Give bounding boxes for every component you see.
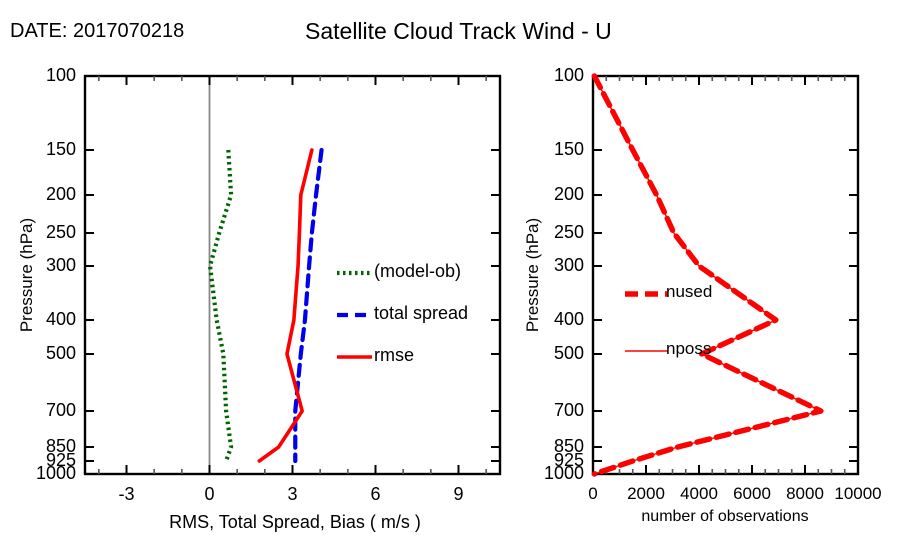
legend-label-nposs: nposs <box>666 339 711 359</box>
right-xaxis-title: number of observations <box>600 508 850 526</box>
right-ytick-700: 700 <box>518 400 584 421</box>
right-yaxis-title: Pressure (hPa) <box>523 200 543 350</box>
left-xtick-6: 6 <box>346 484 406 505</box>
left-xaxis-title: RMS, Total Spread, Bias ( m/s ) <box>140 512 450 533</box>
left-xtick-0: 0 <box>180 484 240 505</box>
legend-label-modelob: (model-ob) <box>374 261 461 282</box>
left-ytick-100: 100 <box>10 65 76 86</box>
legend-label-nused: nused <box>666 282 712 302</box>
right-ytick-150: 150 <box>518 139 584 160</box>
left-yaxis-title: Pressure (hPa) <box>17 200 37 350</box>
chart-root: DATE: 2017070218 Satellite Cloud Track W… <box>0 0 900 560</box>
right-panel-plot <box>593 76 858 474</box>
right-xtick-10000: 10000 <box>818 484 898 504</box>
right-ytick-1000: 1000 <box>518 463 584 484</box>
left-ytick-1000: 1000 <box>10 463 76 484</box>
left-xtick-9: 9 <box>429 484 489 505</box>
left-ytick-700: 700 <box>10 400 76 421</box>
left-xtick-3: 3 <box>263 484 323 505</box>
left-xtick--3: -3 <box>97 484 157 505</box>
legend-label-rmse: rmse <box>374 345 414 366</box>
legend-label-totalspread: total spread <box>374 303 468 324</box>
right-ytick-100: 100 <box>518 65 584 86</box>
left-ytick-150: 150 <box>10 139 76 160</box>
